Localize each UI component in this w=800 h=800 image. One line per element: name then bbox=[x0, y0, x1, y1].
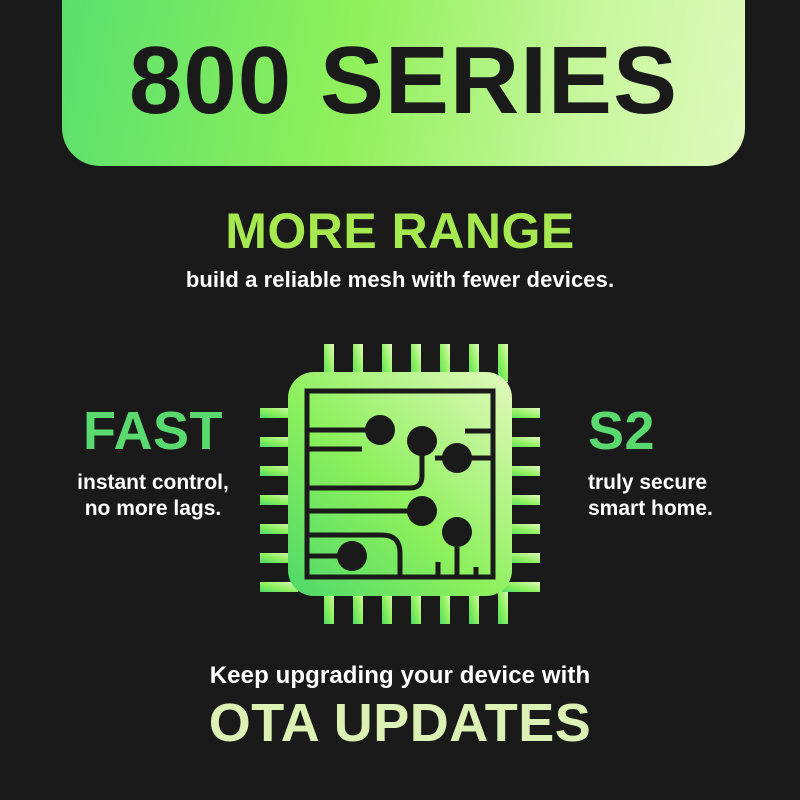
ota-heading: OTA UPDATES bbox=[0, 694, 800, 753]
feature-s2-subtitle-line2: smart home. bbox=[588, 496, 800, 522]
feature-fast: FAST instant control, no more lags. bbox=[28, 404, 278, 521]
feature-s2-heading: S2 bbox=[588, 404, 800, 458]
microchip-icon bbox=[252, 336, 548, 632]
feature-s2-subtitle-line1: truly secure bbox=[588, 470, 800, 496]
feature-s2-subtitle: truly secure smart home. bbox=[588, 470, 800, 521]
banner-title: 800 SERIES bbox=[129, 33, 678, 129]
feature-fast-subtitle-line1: instant control, bbox=[28, 470, 278, 496]
feature-fast-heading: FAST bbox=[28, 404, 278, 458]
infographic-poster: 800 SERIES MORE RANGE build a reliable m… bbox=[0, 0, 800, 800]
microchip-icon-svg bbox=[252, 336, 548, 632]
series-banner: 800 SERIES bbox=[62, 0, 745, 166]
feature-s2: S2 truly secure smart home. bbox=[588, 404, 800, 521]
more-range-heading: MORE RANGE bbox=[0, 205, 800, 258]
feature-fast-subtitle: instant control, no more lags. bbox=[28, 470, 278, 521]
more-range-block: MORE RANGE build a reliable mesh with fe… bbox=[0, 205, 800, 293]
feature-fast-subtitle-line2: no more lags. bbox=[28, 496, 278, 522]
ota-subtitle: Keep upgrading your device with bbox=[0, 662, 800, 690]
more-range-subtitle: build a reliable mesh with fewer devices… bbox=[0, 267, 800, 293]
ota-block: Keep upgrading your device with OTA UPDA… bbox=[0, 662, 800, 753]
